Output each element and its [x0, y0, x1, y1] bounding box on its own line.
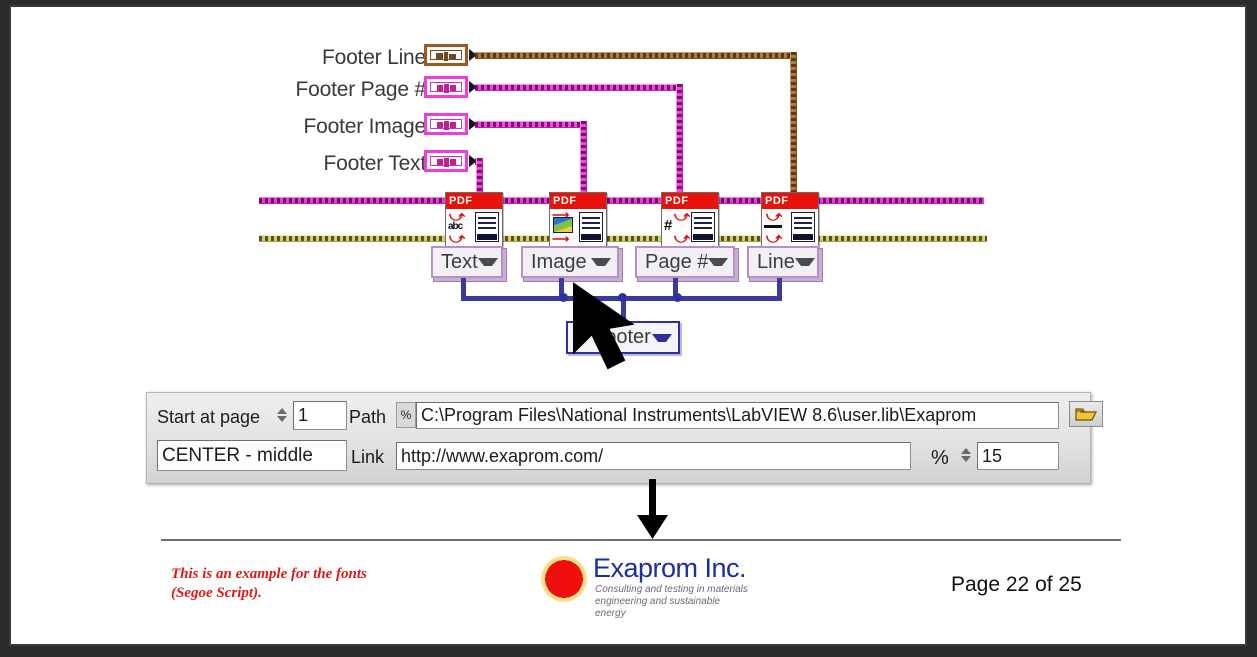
- enum-constant-page-number[interactable]: Page #: [635, 246, 735, 278]
- doc-block: [793, 234, 813, 240]
- wire-bus-pink: [259, 197, 984, 204]
- wire-bus-yellow: [259, 235, 987, 242]
- doc-block: [693, 234, 713, 240]
- glyph-b: [444, 121, 449, 130]
- doc-block: [477, 234, 497, 240]
- chevron-down-icon[interactable]: [478, 258, 498, 266]
- browse-button[interactable]: [1069, 401, 1103, 427]
- pdf-node-icon-image: ⟶ ⟶: [550, 209, 606, 247]
- enum-constant-line[interactable]: Line: [747, 246, 819, 278]
- slide-frame: Footer Line Footer Page # Footer Image F…: [0, 0, 1257, 657]
- folder-open-icon: [1075, 406, 1097, 422]
- terminal-label-footer-image: Footer Image: [161, 115, 426, 139]
- pdf-node-title: PDF: [762, 193, 818, 209]
- doc-line: [694, 217, 712, 219]
- stepper-up-icon[interactable]: [961, 448, 971, 454]
- link-input[interactable]: http://www.exaprom.com/: [396, 442, 911, 470]
- percent-stepper[interactable]: [958, 440, 974, 470]
- start-at-page-label: Start at page: [157, 407, 260, 428]
- red-arrow-icon: ⤻: [674, 231, 690, 246]
- terminal-inner: [430, 119, 462, 129]
- pdf-node-icon-text: ⤻ abc ⤻: [446, 209, 502, 247]
- chevron-down-icon[interactable]: [708, 258, 728, 266]
- glyph-a: [437, 85, 443, 91]
- wire-junction: [673, 293, 682, 302]
- hash-label: #: [664, 217, 672, 234]
- wire-enum-text-v: [461, 278, 466, 298]
- document-icon: [691, 212, 715, 242]
- glyph-b: [444, 84, 449, 93]
- glyph-c: [449, 54, 456, 59]
- doc-line: [582, 217, 600, 219]
- glyph-c: [450, 85, 456, 91]
- doc-line: [794, 227, 812, 229]
- doc-line: [478, 227, 496, 229]
- mouse-cursor-arrow: [566, 282, 666, 402]
- glyph-a: [436, 53, 443, 60]
- wire-footer-page-v: [676, 84, 683, 192]
- doc-line: [694, 227, 712, 229]
- pdf-node-line[interactable]: PDF ⤻ ⤻: [761, 192, 819, 248]
- horizontal-line-icon: [764, 225, 782, 228]
- terminal-inner: [430, 156, 462, 166]
- terminal-label-footer-line: Footer Line: [161, 46, 426, 70]
- red-arrow-icon: ⤻: [766, 231, 782, 246]
- pdf-node-title: PDF: [446, 193, 502, 209]
- pdf-node-icon-line: ⤻ ⤻: [762, 209, 818, 247]
- doc-line: [794, 217, 812, 219]
- enum-label: Line: [757, 251, 795, 274]
- wire-footer-text-v: [476, 158, 483, 192]
- footer-divider: [161, 539, 1121, 541]
- picture-icon: [553, 217, 573, 233]
- enum-constant-text[interactable]: Text: [431, 246, 503, 278]
- path-label: Path: [349, 407, 386, 428]
- logo-mark-icon: [541, 556, 587, 602]
- enum-label: Page #: [645, 251, 708, 274]
- glyph-a: [437, 122, 443, 128]
- page-number: Page 22 of 25: [951, 573, 1082, 597]
- stepper-up-icon[interactable]: [277, 408, 287, 414]
- glyph-b: [444, 52, 448, 61]
- doc-line: [694, 222, 712, 224]
- red-arrow-icon: ⤻: [674, 209, 690, 224]
- chevron-down-icon[interactable]: [591, 258, 611, 266]
- glyph-c: [450, 122, 456, 128]
- wire-enum-line-v: [777, 278, 782, 298]
- document-icon: [791, 212, 815, 242]
- path-type-badge: %: [396, 402, 416, 428]
- chevron-down-icon[interactable]: [795, 258, 815, 266]
- down-arrow-annotation: [635, 479, 671, 541]
- document-icon: [579, 212, 603, 242]
- wire-footer-image-h: [475, 121, 587, 128]
- front-panel-strip[interactable]: Start at page 1 Path % C:\Program Files\…: [146, 392, 1091, 484]
- link-label: Link: [351, 447, 384, 468]
- doc-line: [582, 222, 600, 224]
- pdf-node-page-number[interactable]: PDF ⤻ # ⤻: [661, 192, 719, 248]
- wire-footer-line-v: [790, 52, 797, 192]
- wire-footer-line-h: [475, 52, 797, 59]
- start-at-page-stepper[interactable]: [274, 400, 290, 430]
- doc-line: [478, 217, 496, 219]
- terminal-label-footer-text: Footer Text: [161, 152, 426, 176]
- percent-label: %: [931, 447, 949, 470]
- terminal-footer-text[interactable]: [424, 150, 468, 172]
- slide-content: Footer Line Footer Page # Footer Image F…: [9, 5, 1247, 646]
- doc-line: [478, 222, 496, 224]
- terminal-inner: [430, 50, 462, 60]
- glyph-a: [437, 159, 443, 165]
- wire-footer-page-h: [475, 84, 683, 91]
- labview-block-diagram[interactable]: Footer Line Footer Page # Footer Image F…: [11, 7, 1249, 648]
- pdf-node-image[interactable]: PDF ⟶ ⟶: [549, 192, 607, 248]
- terminal-footer-image[interactable]: [424, 113, 468, 135]
- stepper-down-icon[interactable]: [277, 416, 287, 422]
- glyph-c: [450, 159, 456, 165]
- terminal-footer-page-num[interactable]: [424, 76, 468, 98]
- enum-label: Text: [441, 251, 478, 274]
- doc-line: [794, 222, 812, 224]
- font-sample-text: This is an example for the fonts (Segoe …: [171, 565, 367, 603]
- start-at-page-input[interactable]: 1: [293, 401, 347, 430]
- path-input[interactable]: C:\Program Files\National Instruments\La…: [416, 402, 1059, 429]
- doc-block: [581, 234, 601, 240]
- red-arrow-icon: ⤻: [449, 231, 465, 246]
- glyph-b: [444, 158, 449, 167]
- terminal-footer-line[interactable]: [424, 44, 468, 66]
- stepper-down-icon[interactable]: [961, 456, 971, 462]
- pdf-node-title: PDF: [550, 193, 606, 209]
- doc-line: [582, 227, 600, 229]
- wire-footer-image-v: [580, 121, 587, 192]
- red-arrow-icon: ⤻: [766, 209, 782, 224]
- alignment-input[interactable]: CENTER - middle: [157, 440, 347, 471]
- enum-label: Image: [531, 251, 587, 274]
- logo-company-name: Exaprom Inc.: [593, 553, 746, 584]
- logo-tagline: Consulting and testing in materials engi…: [595, 584, 751, 620]
- pdf-node-icon-pagenum: ⤻ # ⤻: [662, 209, 718, 247]
- enum-constant-image[interactable]: Image: [521, 246, 619, 278]
- terminal-inner: [430, 82, 462, 92]
- document-icon: [475, 212, 499, 242]
- exaprom-logo: Exaprom Inc. Consulting and testing in m…: [541, 553, 751, 605]
- pdf-node-title: PDF: [662, 193, 718, 209]
- terminal-label-footer-page-num: Footer Page #: [161, 78, 426, 102]
- percent-input[interactable]: 15: [977, 442, 1059, 470]
- pdf-node-text[interactable]: PDF ⤻ abc ⤻: [445, 192, 503, 248]
- red-arrow-icon: ⟶: [552, 233, 569, 245]
